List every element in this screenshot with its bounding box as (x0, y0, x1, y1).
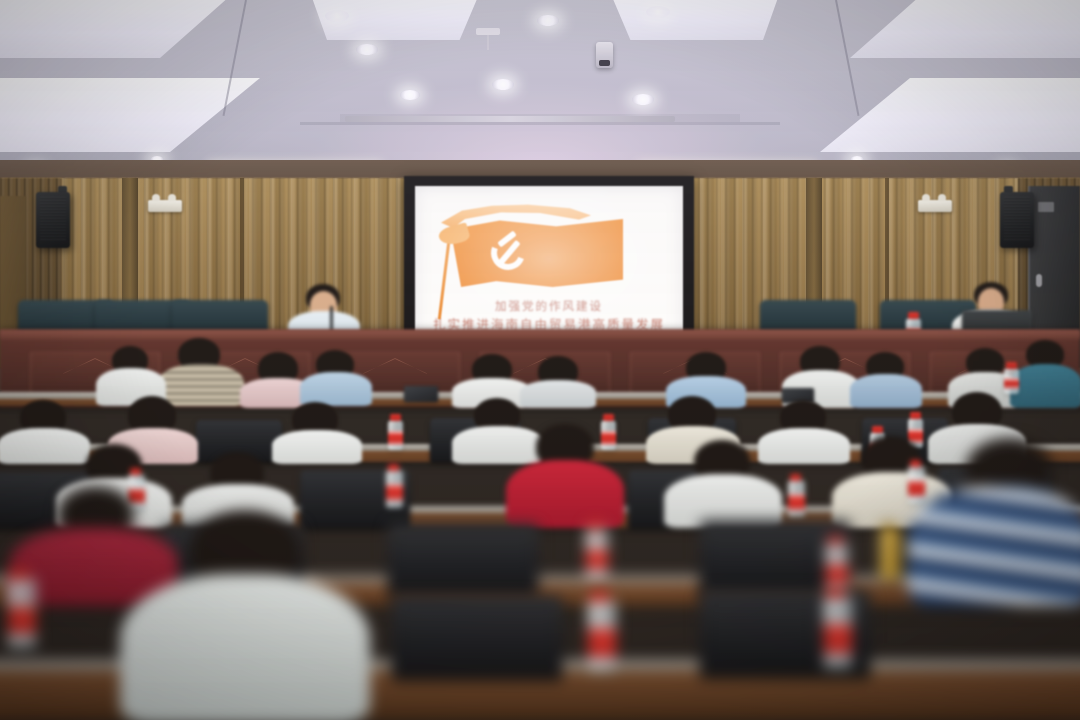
attendee-torso (158, 364, 244, 406)
door-sign-icon (1038, 202, 1054, 212)
ceiling-panel-light (610, 0, 780, 40)
bottle-label (8, 605, 36, 636)
attendee-torso (0, 428, 90, 464)
bottle-cap (882, 523, 894, 529)
attendee-torso (758, 428, 850, 464)
attendee-torso (272, 430, 362, 464)
hammer-and-sickle-icon (491, 234, 537, 276)
cpc-flag-graphic (437, 198, 637, 296)
door-knob-icon[interactable] (1036, 274, 1042, 287)
bottle-label (588, 627, 616, 659)
downlight-icon (632, 94, 654, 105)
attendee-torso (1010, 364, 1080, 408)
emergency-lamp-icon (938, 194, 946, 201)
water-bottle (788, 480, 805, 518)
emergency-lamp-icon (168, 194, 176, 201)
bottle-cap (872, 426, 883, 433)
downlight-icon (537, 15, 559, 26)
audience-chair (392, 596, 562, 680)
attendee-torso (908, 486, 1080, 606)
wall-speaker-left (36, 192, 70, 248)
ceiling-panel-light (0, 78, 260, 152)
ceiling-seam (835, 0, 859, 116)
emergency-light-left (148, 200, 182, 212)
bottle-cap (826, 587, 845, 598)
tea-bottle (880, 528, 900, 580)
bottle-label (826, 563, 848, 587)
downlight-icon (492, 79, 514, 90)
water-bottle (824, 596, 852, 668)
ceiling-panel-light (0, 0, 230, 58)
projector-icon (476, 28, 500, 35)
head-table-top (0, 330, 1080, 339)
water-bottle (8, 578, 36, 648)
bottle-cap (590, 591, 609, 602)
bottle-cap (390, 414, 401, 421)
audience-chair (388, 524, 538, 596)
water-bottle (1004, 368, 1019, 394)
attendee-torso (452, 426, 544, 464)
bottle-label (824, 623, 852, 655)
photo-caption (0, 712, 1080, 720)
light-rail (345, 116, 675, 122)
downlight-icon (400, 90, 420, 100)
emergency-lamp-icon (152, 194, 160, 201)
downlight-icon (646, 6, 670, 18)
emergency-lamp-icon (922, 194, 930, 201)
bottle-label (586, 548, 608, 571)
water-bottle (588, 600, 616, 672)
bottle-label (388, 431, 403, 444)
bottle-cap (603, 414, 614, 421)
projection-screen-frame: 加强党的作风建设 扎实推进海南自由贸易港高质量发展 中共海南省纪委省监委驻省委组… (404, 176, 694, 356)
ceiling-seam (300, 122, 780, 125)
attendee-torso (300, 372, 372, 406)
bottle-label (908, 480, 925, 497)
bottle-cap (10, 569, 29, 580)
tablet-folder (404, 386, 438, 402)
bottle-cap (910, 412, 921, 419)
bottle-label (601, 431, 616, 444)
bottle-cap (388, 464, 399, 471)
attendee-torso (506, 460, 624, 528)
bottle-cap (1006, 362, 1017, 369)
bottle-cap (910, 460, 921, 467)
bottle-cap (588, 522, 603, 531)
bottle-cap (908, 312, 919, 319)
bottle-label (386, 484, 403, 501)
emergency-light-right (918, 200, 952, 212)
attendee-torso (520, 380, 596, 408)
bottle-label (1004, 378, 1019, 389)
ceiling (0, 0, 1080, 178)
water-bottle (601, 420, 616, 450)
water-bottle (586, 528, 608, 580)
water-bottle (908, 466, 925, 504)
conference-hall-photo: 加强党的作风建设 扎实推进海南自由贸易港高质量发展 中共海南省纪委省监委驻省委组… (0, 0, 1080, 720)
bottle-label (788, 494, 805, 511)
downlight-icon (356, 44, 378, 55)
ceiling-panel-light (850, 0, 1080, 58)
wall-speaker-right (1000, 192, 1034, 248)
slide-title-line-1: 加强党的作风建设 (415, 298, 683, 314)
attendee-torso (850, 374, 922, 408)
water-bottle (386, 470, 403, 508)
projection-screen: 加强党的作风建设 扎实推进海南自由贸易港高质量发展 中共海南省纪委省监委驻省委组… (415, 186, 683, 348)
bottle-cap (130, 468, 141, 475)
ceiling-camera-icon (596, 42, 613, 68)
downlight-icon (325, 10, 349, 22)
bottle-cap (790, 474, 801, 481)
water-bottle (388, 420, 403, 450)
attendee-torso (120, 574, 370, 720)
bottle-cap (828, 536, 843, 545)
